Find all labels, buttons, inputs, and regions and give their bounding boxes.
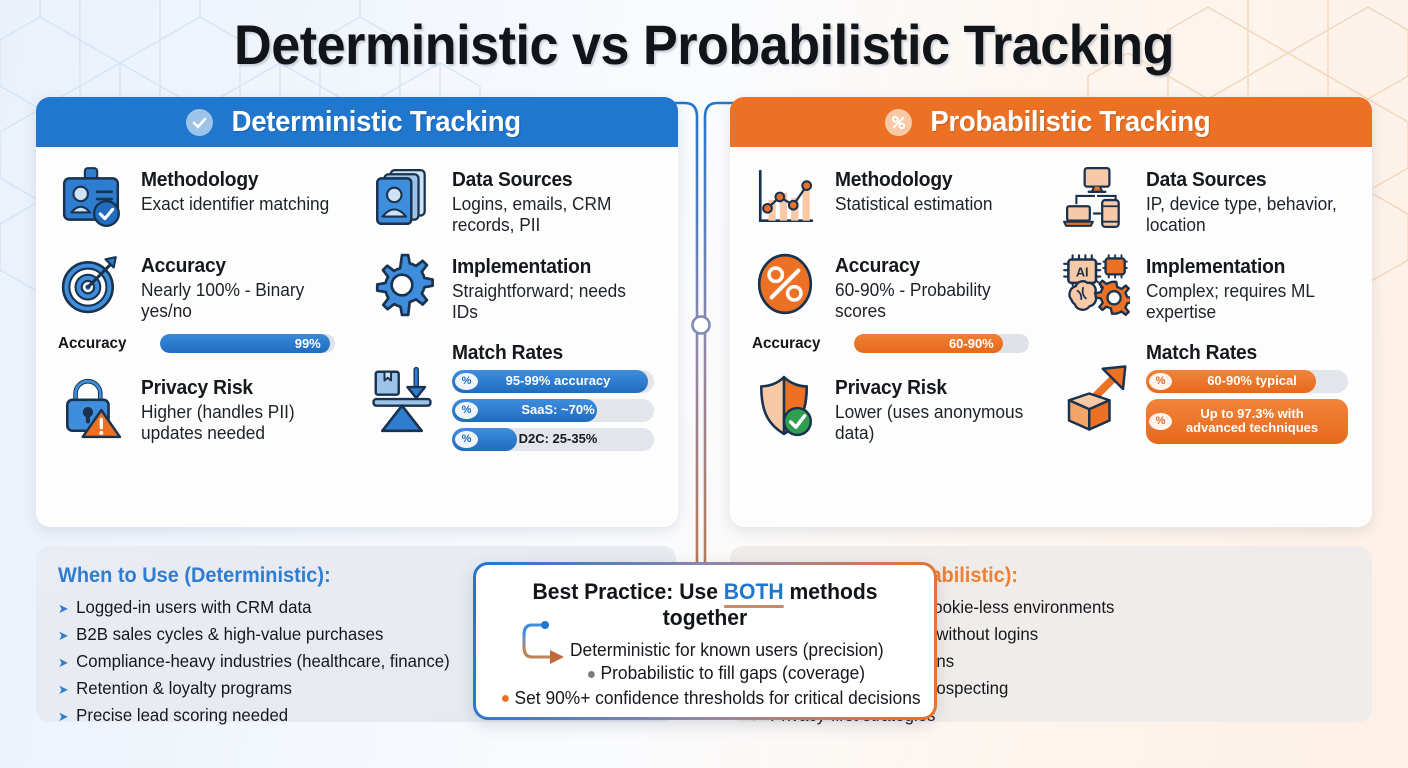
arrow-bullet-icon: ➤ — [58, 680, 68, 700]
bullet-dot — [502, 695, 509, 702]
deterministic-title: Deterministic Tracking — [231, 106, 520, 139]
best-practice-card: Best Practice: Use BOTH methods together… — [473, 562, 937, 720]
feature-methodology-prob: Methodology Statistical estimation — [748, 161, 1045, 235]
percent-circle-icon — [885, 109, 912, 136]
meter-fill: 60-90% — [854, 334, 1003, 353]
meter-track: 99% — [160, 334, 335, 353]
meter-track: 60-90% — [854, 334, 1029, 353]
documents-icon — [365, 161, 439, 235]
devices-icon — [1059, 161, 1133, 235]
branch-arrow-icon — [516, 617, 576, 673]
match-rate-chips-prob: %60-90% typical%Up to 97.3% with advance… — [1146, 370, 1348, 444]
match-rate-chip: %D2C: 25-35% — [452, 428, 654, 451]
match-rate-chip: %SaaS: ~70% — [452, 399, 654, 422]
best-practice-line-2: Probabilistic to fill gaps (coverage) — [588, 662, 906, 685]
best-practice-line-1: Deterministic for known users (precision… — [570, 639, 906, 662]
percent-oval-icon — [748, 247, 822, 321]
feature-title: Methodology — [141, 170, 329, 192]
deterministic-panel: Deterministic Tracking Me — [36, 97, 678, 527]
meter-fill: 99% — [160, 334, 330, 353]
feature-desc: Statistical estimation — [835, 194, 993, 215]
feature-desc: IP, device type, behavior, location — [1146, 194, 1340, 236]
feature-desc: Exact identifier matching — [141, 194, 329, 215]
arrow-bullet-icon: ➤ — [58, 707, 68, 727]
list-item-label: Retention & loyalty programs — [76, 675, 292, 702]
feature-desc: Complex; requires ML expertise — [1146, 281, 1340, 323]
feature-desc: Nearly 100% - Binary yes/no — [141, 280, 343, 322]
feature-title: Privacy Risk — [141, 378, 343, 400]
chip-label: D2C: 25-35% — [478, 432, 654, 446]
percent-icon: % — [1149, 413, 1172, 430]
lock-alert-icon — [54, 369, 128, 443]
feature-accuracy-prob: Accuracy 60-90% - Probability scores — [748, 247, 1045, 322]
feature-implementation-prob: AI Implementation Complex; requires ML e… — [1059, 248, 1348, 323]
feature-title: Accuracy — [141, 256, 343, 278]
feature-desc: 60-90% - Probability scores — [835, 280, 1037, 322]
probabilistic-right-column: Data Sources IP, device type, behavior, … — [1051, 161, 1354, 517]
deterministic-right-column: Data Sources Logins, emails, CRM records… — [357, 161, 660, 517]
ai-chip-icon: AI — [1059, 248, 1133, 322]
feature-title: Accuracy — [835, 256, 1037, 278]
match-rate-chips-det: %95-99% accuracy%SaaS: ~70%%D2C: 25-35% — [452, 370, 654, 451]
chip-label: Up to 97.3% with advanced techniques — [1172, 407, 1348, 436]
feature-matchrates-det: Match Rates %95-99% accuracy%SaaS: ~70%%… — [365, 343, 654, 457]
meter-label: Accuracy — [58, 335, 145, 353]
arrow-bullet-icon: ➤ — [58, 599, 68, 619]
heading-pre: Best Practice: Use — [532, 579, 723, 604]
match-rate-chip: %60-90% typical — [1146, 370, 1348, 393]
list-item-label: Precise lead scoring needed — [76, 702, 288, 729]
feature-implementation-det: Implementation Straightforward; needs ID… — [365, 248, 654, 323]
feature-title: Implementation — [452, 257, 646, 279]
feature-datasources-det: Data Sources Logins, emails, CRM records… — [365, 161, 654, 236]
gear-icon — [365, 248, 439, 322]
feature-title: Methodology — [835, 170, 993, 192]
list-item-label: B2B sales cycles & high-value purchases — [76, 621, 383, 648]
chip-label: 95-99% accuracy — [478, 374, 654, 388]
percent-icon: % — [455, 431, 478, 448]
check-circle-icon — [186, 109, 213, 136]
feature-desc: Logins, emails, CRM records, PII — [452, 194, 646, 236]
match-rate-chip: %Up to 97.3% with advanced techniques — [1146, 399, 1348, 444]
meter-label: Accuracy — [752, 335, 839, 353]
feature-title: Data Sources — [1146, 170, 1340, 192]
match-rate-chip: %95-99% accuracy — [452, 370, 654, 393]
feature-desc: Higher (handles PII) updates needed — [141, 402, 343, 444]
best-practice-line-3: Set 90%+ confidence thresholds for criti… — [502, 687, 903, 710]
line-text: Deterministic for known users (precision… — [570, 640, 884, 660]
accuracy-meter-det: Accuracy 99% — [58, 334, 351, 353]
feature-privacy-prob: Privacy Risk Lower (uses anonymous data) — [748, 369, 1045, 444]
shield-check-icon — [748, 369, 822, 443]
svg-text:AI: AI — [1076, 265, 1089, 280]
feature-accuracy-det: Accuracy Nearly 100% - Binary yes/no — [54, 247, 351, 322]
list-item-label: Logged-in users with CRM data — [76, 594, 311, 621]
probabilistic-left-column: Methodology Statistical estimation Accur… — [748, 161, 1051, 517]
percent-icon: % — [1149, 373, 1172, 390]
feature-desc: Lower (uses anonymous data) — [835, 402, 1037, 444]
feature-desc: Straightforward; needs IDs — [452, 281, 646, 323]
probabilistic-title: Probabilistic Tracking — [930, 106, 1210, 139]
scale-icon — [365, 361, 439, 435]
chip-label: SaaS: ~70% — [478, 403, 654, 417]
probabilistic-panel: Probabilistic Tracking — [730, 97, 1372, 527]
line-text: Set 90%+ confidence thresholds for criti… — [515, 688, 921, 708]
feature-methodology-det: Methodology Exact identifier matching — [54, 161, 351, 235]
list-item-label: Compliance-heavy industries (healthcare,… — [76, 648, 450, 675]
percent-icon: % — [455, 402, 478, 419]
chip-label: 60-90% typical — [1172, 374, 1348, 388]
target-icon — [54, 247, 128, 321]
deterministic-header: Deterministic Tracking — [36, 97, 678, 147]
feature-privacy-det: Privacy Risk Higher (handles PII) update… — [54, 369, 351, 444]
feature-title: Implementation — [1146, 257, 1340, 279]
feature-datasources-prob: Data Sources IP, device type, behavior, … — [1059, 161, 1348, 236]
bullet-dot — [588, 671, 595, 678]
arrow-bullet-icon: ➤ — [58, 626, 68, 646]
id-badge-icon — [54, 161, 128, 235]
arrow-bullet-icon: ➤ — [58, 653, 68, 673]
page-title: Deterministic vs Probabilistic Tracking — [49, 12, 1358, 77]
accuracy-meter-prob: Accuracy 60-90% — [752, 334, 1045, 353]
line-bar-chart-icon — [748, 161, 822, 235]
feature-title: Privacy Risk — [835, 378, 1037, 400]
feature-title: Match Rates — [1146, 343, 1340, 365]
heading-emphasis: BOTH — [724, 579, 784, 608]
box-arrow-icon — [1059, 361, 1133, 435]
feature-title: Match Rates — [452, 343, 646, 365]
percent-icon: % — [455, 373, 478, 390]
feature-matchrates-prob: Match Rates %60-90% typical%Up to 97.3% … — [1059, 343, 1348, 450]
feature-title: Data Sources — [452, 170, 646, 192]
deterministic-left-column: Methodology Exact identifier matching — [54, 161, 357, 517]
probabilistic-header: Probabilistic Tracking — [730, 97, 1372, 147]
line-text: Probabilistic to fill gaps (coverage) — [601, 663, 866, 683]
